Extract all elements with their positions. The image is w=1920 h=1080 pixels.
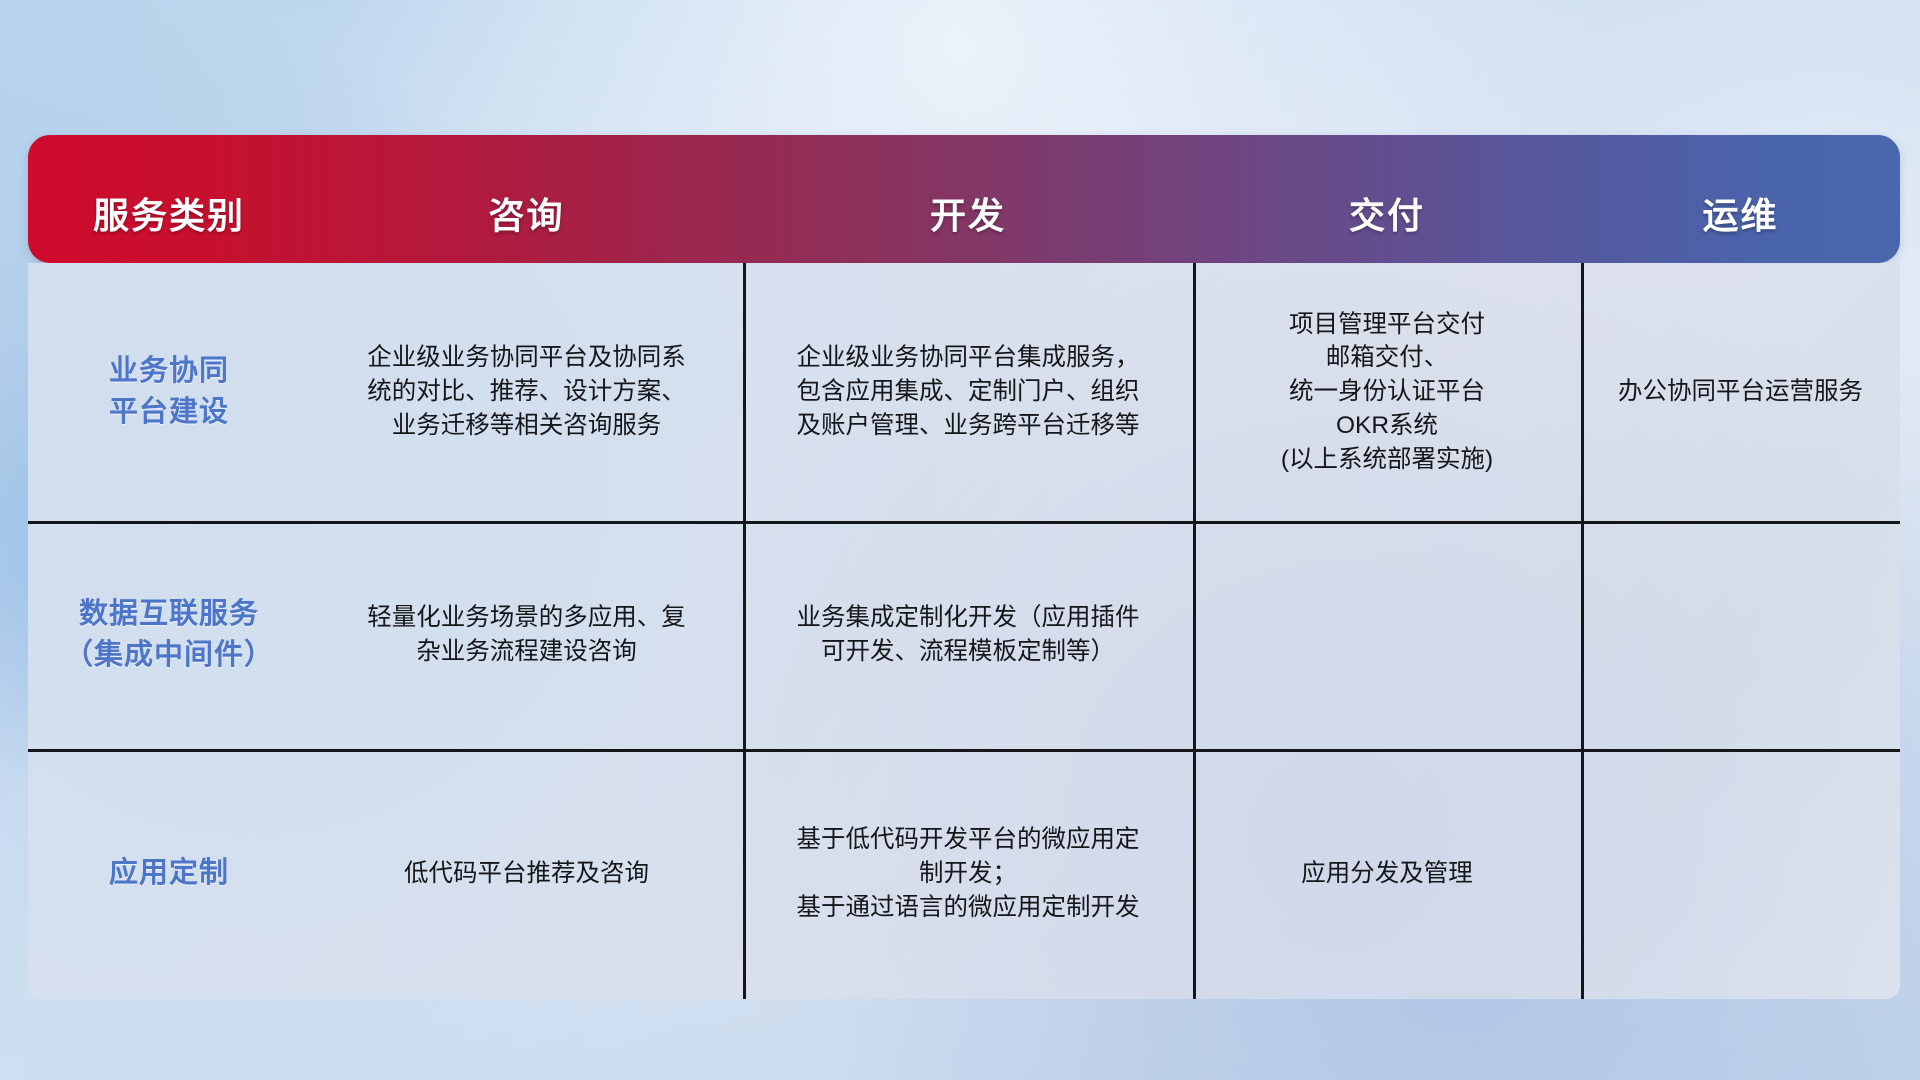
service-category-table: 服务类别 咨询 开发 交付 运维 业务协同 平台建设 企业级业务协同平台及协同系…	[28, 135, 1900, 999]
cell-delivery	[1193, 521, 1581, 749]
row-category-label: 数据互联服务 （集成中间件）	[28, 521, 310, 749]
cell-development: 企业级业务协同平台集成服务， 包含应用集成、定制门户、组织 及账户管理、业务跨平…	[743, 263, 1193, 521]
cell-delivery: 应用分发及管理	[1193, 749, 1581, 999]
table-body: 业务协同 平台建设 企业级业务协同平台及协同系 统的对比、推荐、设计方案、 业务…	[28, 263, 1900, 999]
column-header-operations: 运维	[1581, 135, 1900, 263]
cell-consulting: 低代码平台推荐及咨询	[310, 749, 743, 999]
table-row: 应用定制 低代码平台推荐及咨询 基于低代码开发平台的微应用定 制开发； 基于通过…	[28, 749, 1900, 999]
column-header-development: 开发	[743, 135, 1193, 263]
cell-development: 基于低代码开发平台的微应用定 制开发； 基于通过语言的微应用定制开发	[743, 749, 1193, 999]
table-header-row: 服务类别 咨询 开发 交付 运维	[28, 135, 1900, 263]
column-header-category: 服务类别	[28, 135, 310, 263]
column-divider	[743, 263, 746, 999]
row-category-label: 应用定制	[28, 749, 310, 999]
cell-development: 业务集成定制化开发（应用插件 可开发、流程模板定制等）	[743, 521, 1193, 749]
row-category-label: 业务协同 平台建设	[28, 263, 310, 521]
cell-operations	[1581, 521, 1900, 749]
cell-operations	[1581, 749, 1900, 999]
cell-consulting: 轻量化业务场景的多应用、复 杂业务流程建设咨询	[310, 521, 743, 749]
cell-consulting: 企业级业务协同平台及协同系 统的对比、推荐、设计方案、 业务迁移等相关咨询服务	[310, 263, 743, 521]
column-header-delivery: 交付	[1193, 135, 1581, 263]
table-row: 业务协同 平台建设 企业级业务协同平台及协同系 统的对比、推荐、设计方案、 业务…	[28, 263, 1900, 521]
table-row: 数据互联服务 （集成中间件） 轻量化业务场景的多应用、复 杂业务流程建设咨询 业…	[28, 521, 1900, 749]
cell-delivery: 项目管理平台交付 邮箱交付、 统一身份认证平台 OKR系统 (以上系统部署实施)	[1193, 263, 1581, 521]
column-divider	[1193, 263, 1196, 999]
cell-operations: 办公协同平台运营服务	[1581, 263, 1900, 521]
column-divider	[1581, 263, 1584, 999]
column-header-consulting: 咨询	[310, 135, 743, 263]
